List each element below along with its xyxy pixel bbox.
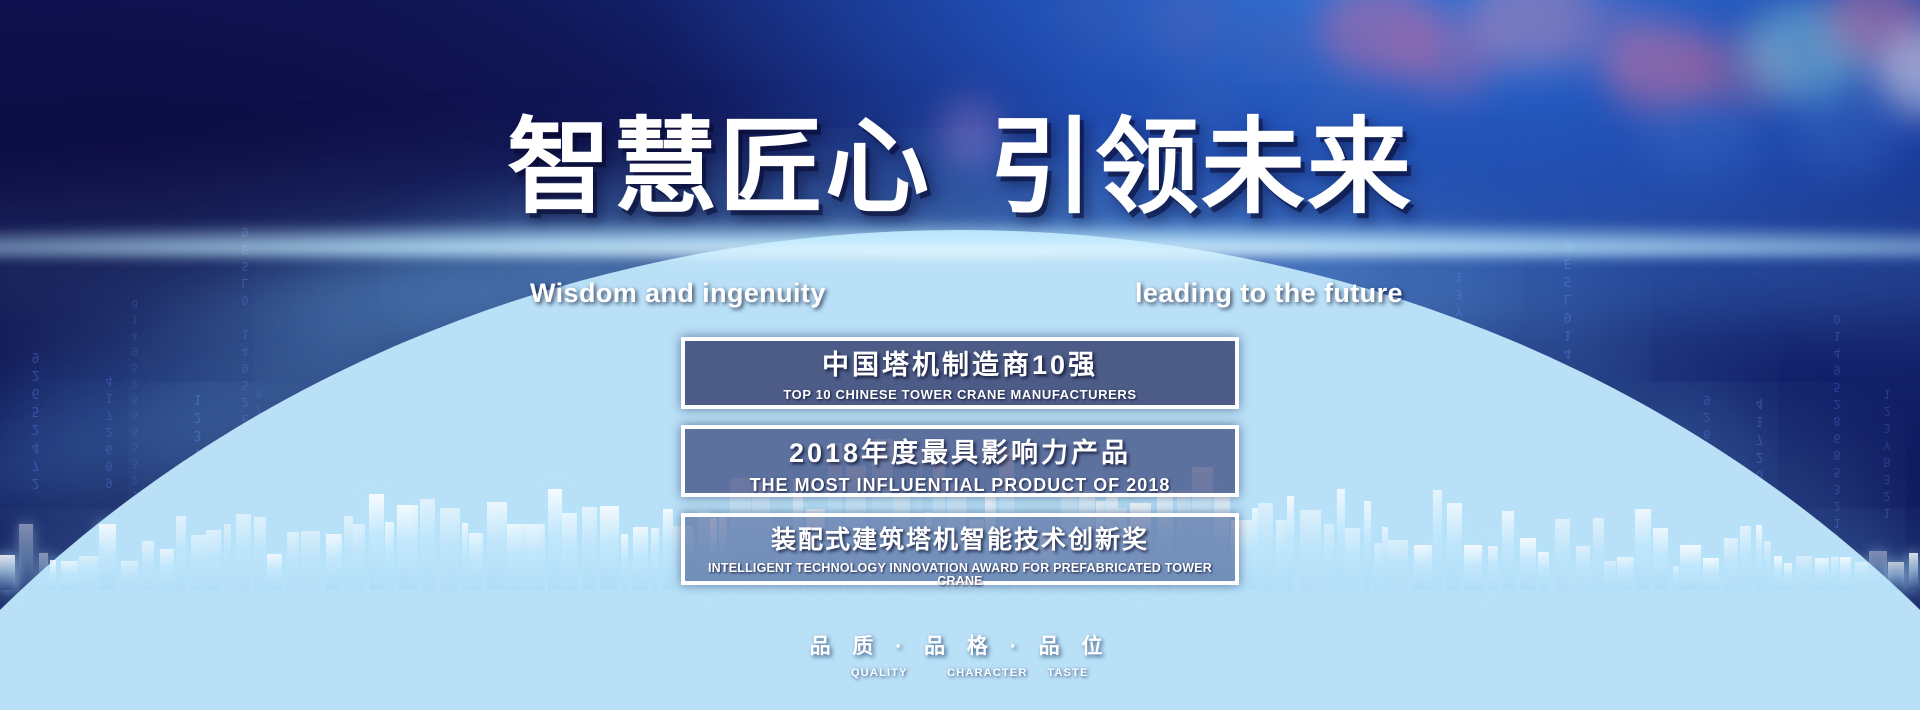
award-title-cn: 中国塔机制造商10强 [685, 341, 1235, 379]
tagline-cn: 品 质 · 品 格 · 品 位 [0, 630, 1920, 660]
award-title-en: TOP 10 CHINESE TOWER CRANE MANUFACTURERS [685, 379, 1235, 401]
award-title-cn: 2018年度最具影响力产品 [685, 429, 1235, 467]
award-badge-influential: 2018年度最具影响力产品 THE MOST INFLUENTIAL PRODU… [681, 425, 1239, 497]
tagline-quality: QUALITY [831, 667, 927, 679]
tagline-en: QUALITYCHARACTERTASTE [0, 667, 1920, 679]
award-badge-top10: 中国塔机制造商10强 TOP 10 CHINESE TOWER CRANE MA… [681, 337, 1239, 409]
subtitle-right: leading to the future [1135, 278, 1403, 309]
award-title-en: INTELLIGENT TECHNOLOGY INNOVATION AWARD … [685, 553, 1235, 587]
award-badge-innovation: 装配式建筑塔机智能技术创新奖 INTELLIGENT TECHNOLOGY IN… [681, 513, 1239, 585]
page-title: 智慧匠心引领未来 [0, 116, 1920, 220]
footer-tagline: 品 质 · 品 格 · 品 位 QUALITYCHARACTERTASTE [0, 630, 1920, 679]
promotional-banner: 2742562990627141235868259410123BY3211290… [0, 0, 1920, 710]
tagline-character: CHARACTER [927, 667, 1047, 679]
award-title-en: THE MOST INFLUENTIAL PRODUCT OF 2018 [685, 467, 1235, 494]
award-list: 中国塔机制造商10强 TOP 10 CHINESE TOWER CRANE MA… [681, 337, 1239, 601]
tagline-taste: TASTE [1047, 667, 1088, 679]
headline-left: 智慧匠心 [507, 110, 931, 226]
subtitle-left: Wisdom and ingenuity [530, 278, 826, 309]
headline-right: 引领未来 [989, 110, 1413, 226]
award-title-cn: 装配式建筑塔机智能技术创新奖 [685, 517, 1235, 553]
